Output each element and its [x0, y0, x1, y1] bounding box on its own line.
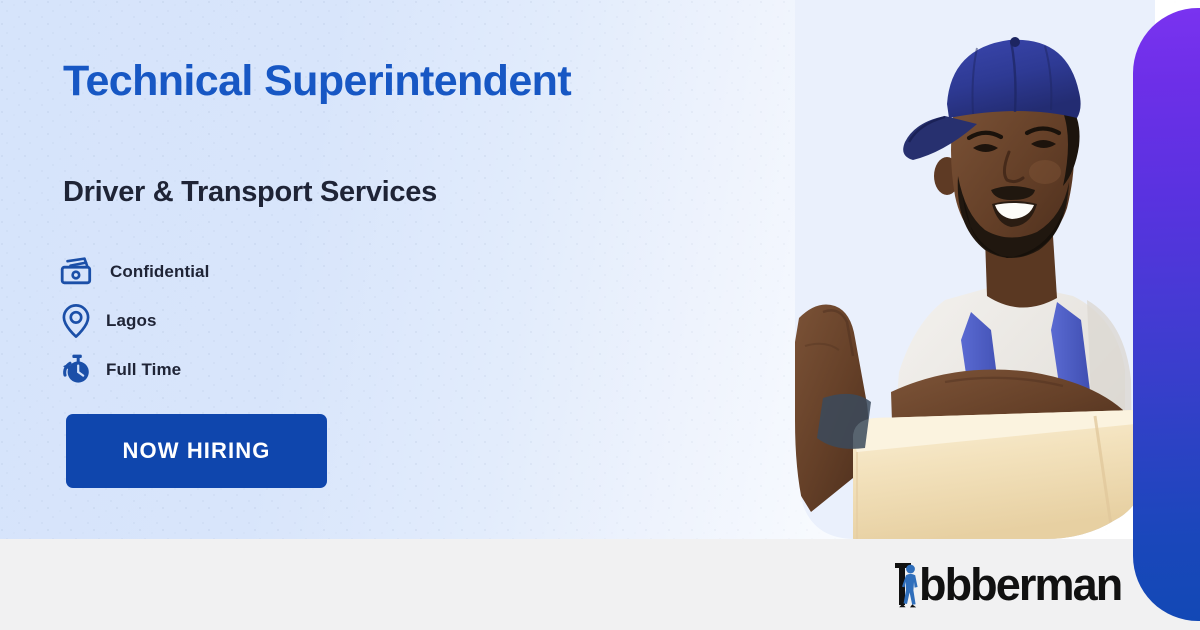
job-category: Driver & Transport Services	[63, 176, 437, 209]
meta-row-employment-type: Full Time	[60, 348, 209, 392]
jobberman-logo[interactable]: bbberman	[893, 560, 1121, 608]
edge-gradient-bar	[1133, 8, 1200, 621]
job-meta-list: Confidential Lagos	[60, 250, 209, 397]
job-banner: Technical Superintendent Driver & Transp…	[0, 0, 1200, 630]
meta-row-location: Lagos	[60, 299, 209, 343]
location-icon	[60, 303, 104, 339]
meta-label-employment-type: Full Time	[104, 360, 181, 380]
job-title: Technical Superintendent	[63, 57, 571, 106]
worker-photo	[795, 0, 1155, 539]
meta-label-location: Lagos	[104, 311, 157, 331]
jobberman-figure-icon	[893, 560, 927, 608]
jobberman-wordmark: bbberman	[919, 562, 1121, 607]
meta-row-salary: Confidential	[60, 250, 209, 294]
now-hiring-button[interactable]: NOW HIRING	[66, 414, 327, 488]
stopwatch-icon	[60, 353, 104, 387]
meta-label-salary: Confidential	[104, 262, 209, 282]
money-icon	[60, 257, 104, 287]
